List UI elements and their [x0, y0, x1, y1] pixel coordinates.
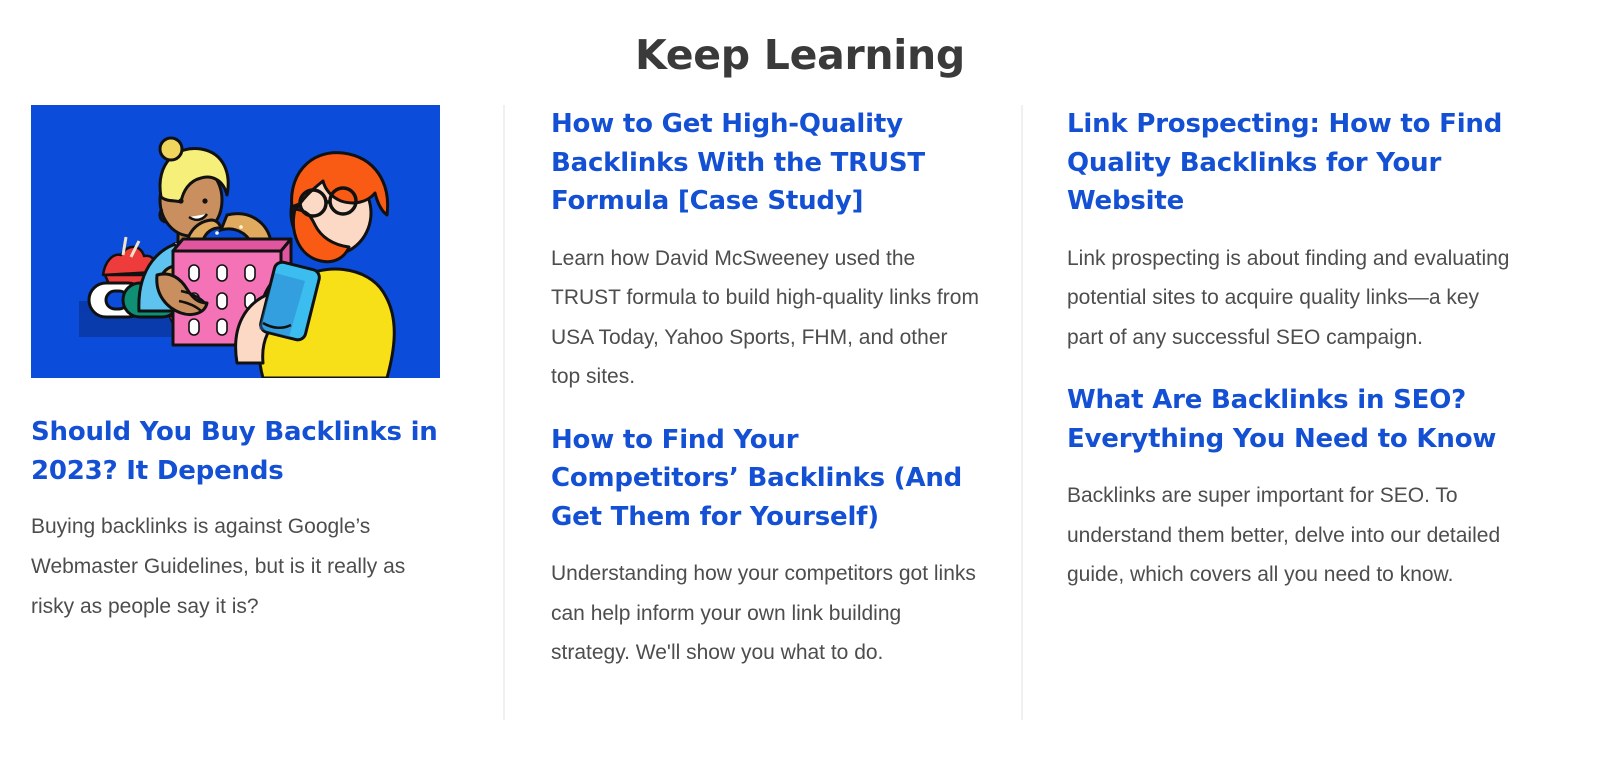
article-title-link[interactable]: How to Find Your Competitors’ Backlinks … [551, 421, 979, 537]
article-description: Backlinks are super important for SEO. T… [1067, 476, 1510, 595]
column-left: Should You Buy Backlinks in 2023? It Dep… [0, 105, 503, 720]
article-card: Link Prospecting: How to Find Quality Ba… [1067, 105, 1510, 357]
article-description: Buying backlinks is against Google’s Web… [31, 507, 443, 627]
article-title-link[interactable]: Should You Buy Backlinks in 2023? It Dep… [31, 413, 443, 490]
keep-learning-section: Keep Learning [0, 0, 1600, 774]
article-card: Should You Buy Backlinks in 2023? It Dep… [31, 413, 443, 627]
article-title-link[interactable]: Link Prospecting: How to Find Quality Ba… [1067, 105, 1510, 221]
column-right: Link Prospecting: How to Find Quality Ba… [1021, 105, 1600, 720]
article-thumbnail[interactable] [31, 105, 440, 378]
page-title: Keep Learning [0, 24, 1600, 86]
article-columns: Should You Buy Backlinks in 2023? It Dep… [0, 105, 1600, 720]
article-card: How to Find Your Competitors’ Backlinks … [551, 421, 979, 673]
article-description: Understanding how your competitors got l… [551, 554, 979, 673]
article-title-link[interactable]: How to Get High-Quality Backlinks With t… [551, 105, 979, 221]
article-card: What Are Backlinks in SEO? Everything Yo… [1067, 381, 1510, 595]
article-description: Learn how David McSweeney used the TRUST… [551, 239, 979, 397]
article-title-link[interactable]: What Are Backlinks in SEO? Everything Yo… [1067, 381, 1510, 458]
article-card: How to Get High-Quality Backlinks With t… [551, 105, 979, 397]
column-middle: How to Get High-Quality Backlinks With t… [503, 105, 1021, 720]
article-description: Link prospecting is about finding and ev… [1067, 239, 1510, 358]
backlinks-illustration-icon [31, 105, 440, 378]
